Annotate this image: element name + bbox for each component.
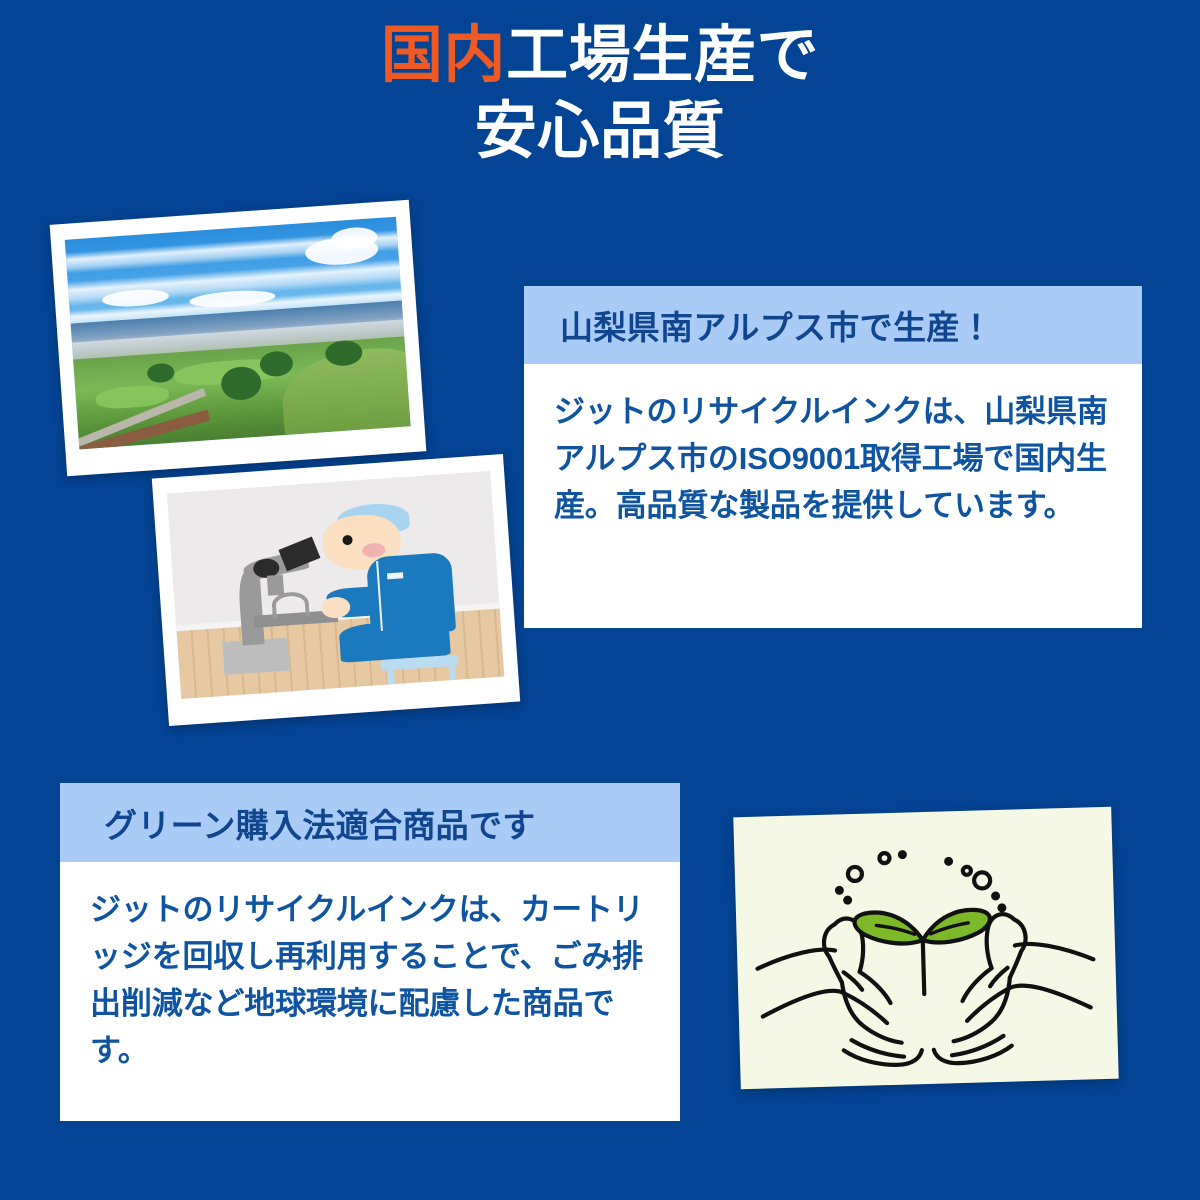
landscape-photo: [50, 200, 427, 476]
microscope-illustration: [167, 471, 505, 699]
title-accent-text: 国内: [381, 21, 506, 90]
card-production-text: ジットのリサイクルインクは、山梨県南アルプス市のISO9001取得工場で国内生産…: [554, 388, 1120, 529]
uniform-pocket: [387, 572, 404, 579]
card-green-header: グリーン購入法適合商品です: [60, 783, 680, 862]
hands-holding-sprout-icon: [733, 807, 1118, 1089]
card-production: 山梨県南アルプス市で生産！ ジットのリサイクルインクは、山梨県南アルプス市のIS…: [524, 286, 1142, 628]
chair-leg: [387, 668, 395, 685]
title-line-1: 国内工場生産で: [0, 18, 1200, 94]
title-line-2: 安心品質: [0, 94, 1200, 170]
microscope-photo: [152, 454, 520, 726]
promo-banner: 国内工場生産で 安心品質: [0, 0, 1200, 1200]
card-production-body: ジットのリサイクルインクは、山梨県南アルプス市のISO9001取得工場で国内生産…: [524, 364, 1142, 529]
eco-illustration-card: [733, 807, 1118, 1089]
page-title: 国内工場生産で 安心品質: [0, 18, 1200, 169]
card-green: グリーン購入法適合商品です ジットのリサイクルインクは、カートリッジを回収し再利…: [60, 783, 680, 1121]
chair-leg: [448, 663, 456, 680]
card-green-text: ジットのリサイクルインクは、カートリッジを回収し再利用することで、ごみ排出削減な…: [90, 886, 662, 1074]
landscape-photo-image: [65, 217, 411, 450]
card-production-header: 山梨県南アルプス市で生産！: [524, 286, 1142, 364]
microscope-knob: [271, 591, 310, 618]
title-rest-text: 工場生産で: [506, 21, 819, 90]
card-green-body: ジットのリサイクルインクは、カートリッジを回収し再利用することで、ごみ排出削減な…: [60, 862, 680, 1074]
